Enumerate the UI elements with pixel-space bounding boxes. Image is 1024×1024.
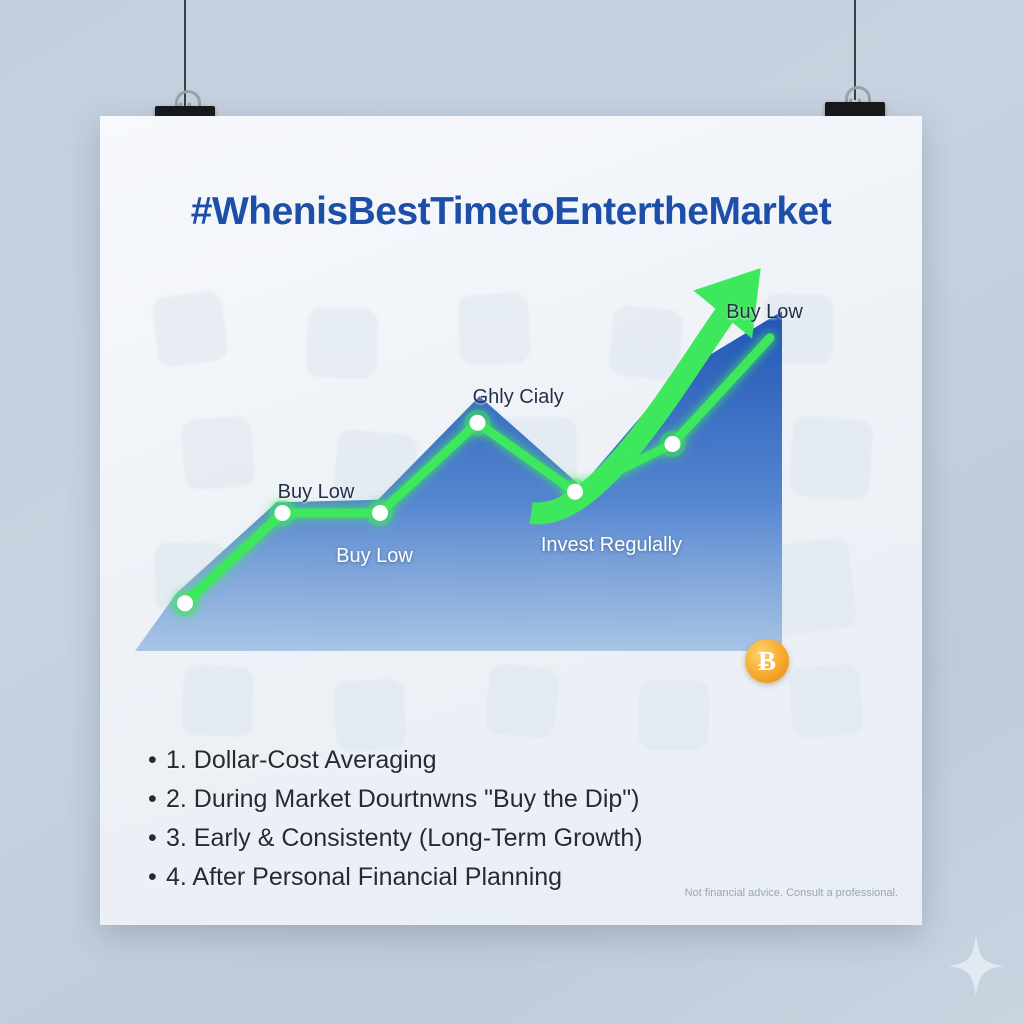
list-item-label: 2. During Market Dourtnwns "Buy the Dip"… (166, 785, 640, 813)
tips-list: •1. Dollar-Cost Averaging •2. During Mar… (148, 746, 848, 902)
data-point[interactable] (372, 505, 388, 521)
chart-svg (100, 266, 922, 736)
data-point[interactable] (567, 484, 583, 500)
page-title: #WhenisBestTimetoEntertheMarket (100, 190, 922, 234)
chart-annotation-3: Ghly Cialy (473, 386, 564, 409)
data-point[interactable] (177, 595, 193, 611)
list-item: •1. Dollar-Cost Averaging (148, 746, 848, 775)
list-item: •2. During Market Dourtnwns "Buy the Dip… (148, 785, 848, 814)
chart-annotation-5: Buy Low (726, 301, 803, 324)
bullet-dot-icon: • (148, 863, 166, 892)
list-item: •3. Early & Consistenty (Long-Term Growt… (148, 824, 848, 853)
bitcoin-coin-icon: Ƀ (745, 639, 789, 683)
disclaimer-text: Not financial advice. Consult a professi… (685, 887, 898, 899)
data-point[interactable] (665, 436, 681, 452)
bullet-dot-icon: • (148, 746, 166, 775)
hanging-string-right (854, 0, 856, 100)
poster: #WhenisBestTimetoEntertheMarket (100, 116, 922, 925)
sparkle-decoration-icon (948, 935, 1004, 997)
list-item-label: 3. Early & Consistenty (Long-Term Growth… (166, 824, 643, 852)
market-timing-chart: Buy LowBuy LowGhly CialyInvest Regulally… (100, 266, 922, 736)
data-point[interactable] (275, 505, 291, 521)
chart-annotation-4: Invest Regulally (541, 534, 682, 557)
bullet-dot-icon: • (148, 785, 166, 814)
list-item-label: 1. Dollar-Cost Averaging (166, 746, 437, 774)
bullet-dot-icon: • (148, 824, 166, 853)
list-item-label: 4. After Personal Financial Planning (166, 863, 562, 891)
chart-annotation-1: Buy Low (278, 481, 355, 504)
chart-annotation-2: Buy Low (336, 545, 413, 568)
data-point[interactable] (470, 415, 486, 431)
